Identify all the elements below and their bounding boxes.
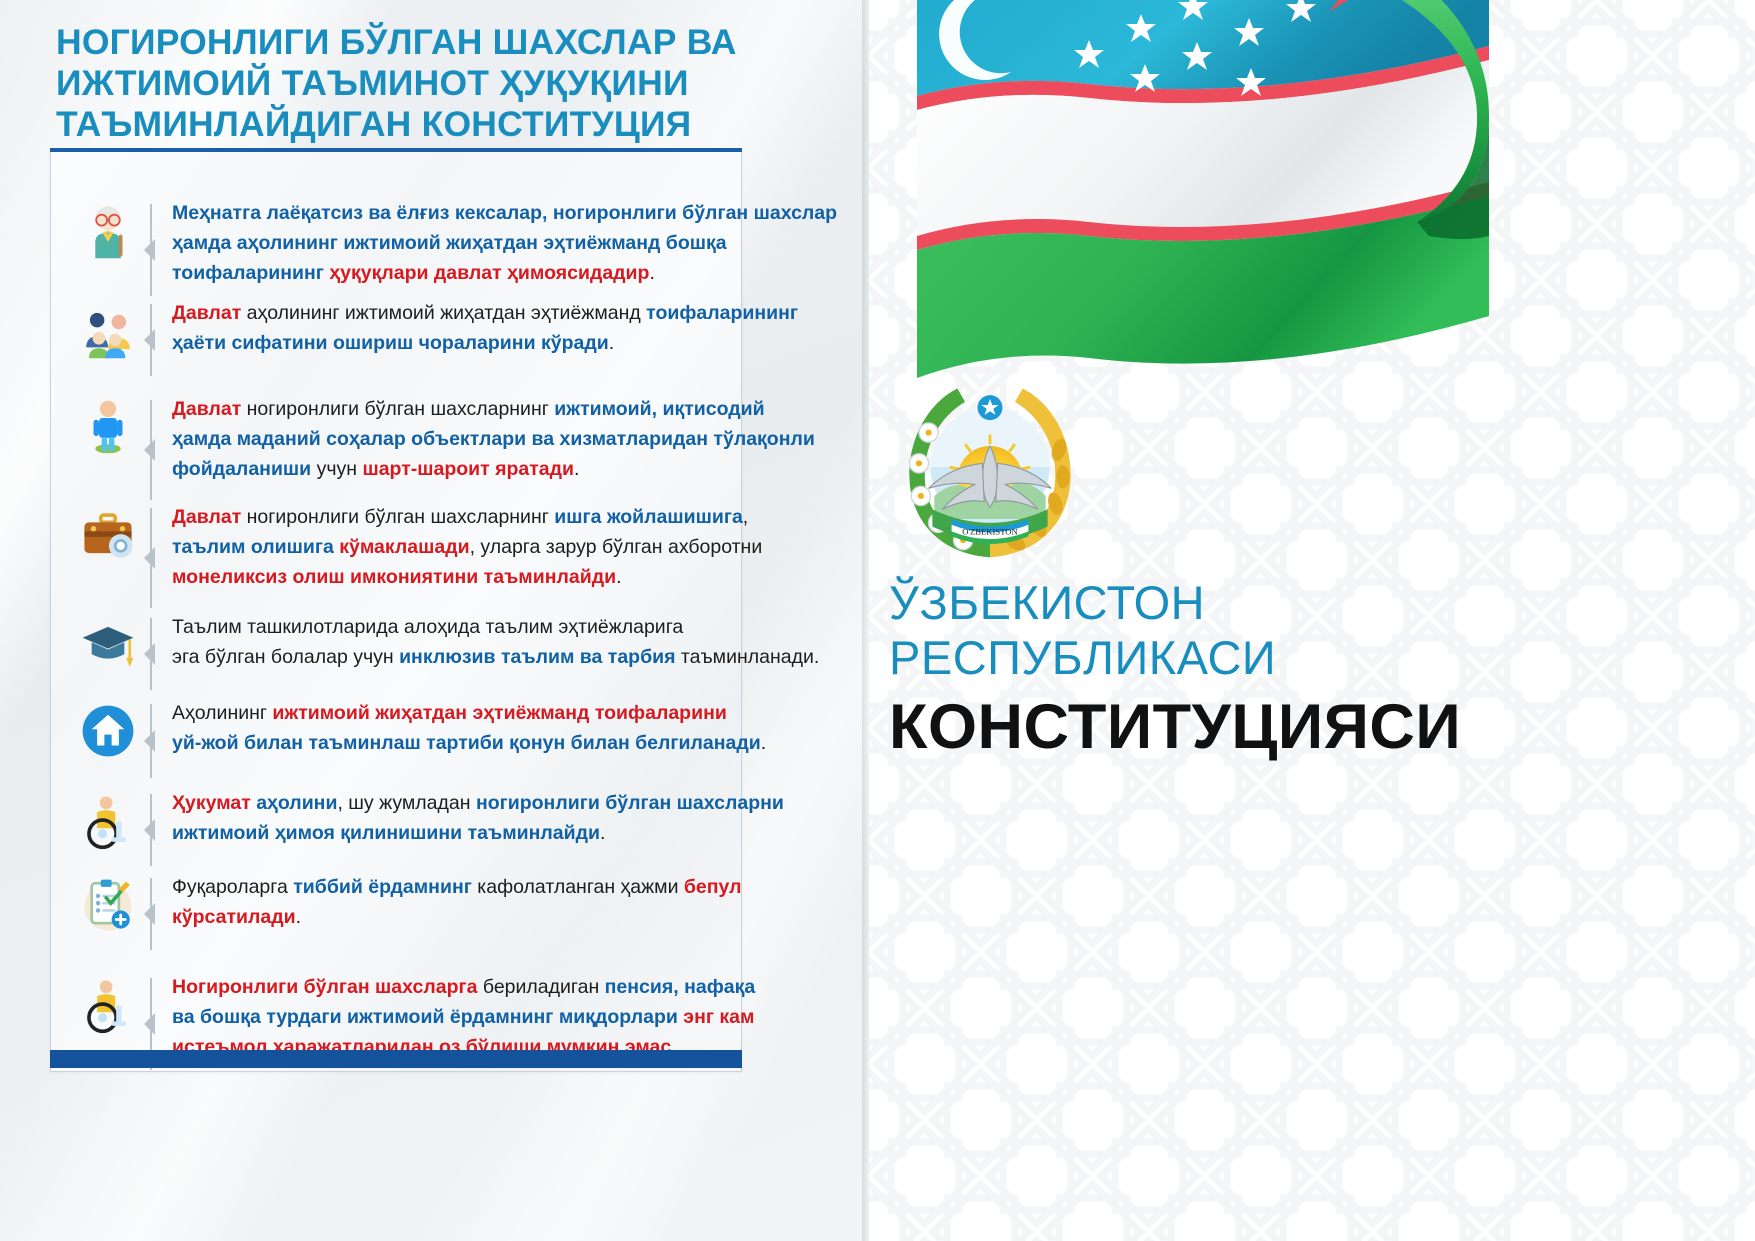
title-line-3: ТАЪМИНЛАЙДИГАН КОНСТИТУЦИЯ [56, 104, 756, 145]
provision-text-line: Меҳнатга лаёқатсиз ва ёлғиз кексалар, но… [172, 198, 837, 228]
provision-text-line: Фуқароларга тиббий ёрдамнинг кафолатланг… [172, 872, 742, 902]
text-segment: . [609, 332, 614, 354]
provision-icon-cell [72, 972, 144, 1034]
text-segment: Ногиронлиги бўлган шахсларга [172, 976, 477, 998]
provision-row: Ҳукумат аҳолини, шу жумладан ногиронлиги… [50, 788, 740, 872]
text-segment: , шу жумладан [337, 792, 475, 814]
provision-text-line: Ҳукумат аҳолини, шу жумладан ногиронлиги… [172, 788, 784, 818]
text-segment: таълим олишига [172, 536, 339, 558]
text-segment: ногиронлиги бўлган шахсларнинг [241, 506, 554, 528]
page-title: НОГИРОНЛИГИ БЎЛГАН ШАХСЛАР ВА ИЖТИМОИЙ Т… [56, 22, 756, 145]
bracket-divider [144, 502, 158, 614]
provision-text-line: кўрсатилади. [172, 902, 742, 932]
text-segment: Ҳукумат [172, 792, 256, 814]
home-shield-icon [79, 702, 137, 760]
provision-row: Фуқароларга тиббий ёрдамнинг кафолатланг… [50, 872, 740, 956]
text-segment: ижтимоий жиҳатдан эҳтиёжманд тоифаларини [272, 702, 726, 724]
provision-icon-cell [72, 394, 144, 456]
country-line-2: РЕСПУБЛИКАСИ [889, 630, 1689, 685]
provision-text: Давлат ногиронлиги бўлган шахсларнинг иж… [158, 394, 819, 484]
family-group-icon [79, 302, 137, 360]
bracket-divider [144, 788, 158, 872]
text-segment: ногиронлиги бўлган шахсларни [476, 792, 784, 814]
text-segment: уй-жой билан таъминлаш тартиби қонун бил… [172, 732, 761, 754]
infographic-poster: НОГИРОНЛИГИ БЎЛГАН ШАХСЛАР ВА ИЖТИМОИЙ Т… [0, 0, 1755, 1241]
text-segment: Меҳнатга лаёқатсиз ва ёлғиз кексалар, но… [172, 202, 837, 224]
text-segment: Аҳолининг [172, 702, 272, 724]
text-segment: ишга жойлашишига [554, 506, 743, 528]
title-line-2: ИЖТИМОИЙ ТАЪМИНОТ ҲУҚУҚИНИ [56, 63, 756, 104]
provision-row: Давлат ногиронлиги бўлган шахсларнинг иж… [50, 394, 740, 506]
right-panel: O'ZBEKISTON ЎЗБЕКИСТОН РЕСПУБЛИКАСИ КОНС… [869, 0, 1755, 1241]
emblem-scroll-text: O'ZBEKISTON [962, 526, 1018, 536]
provision-text-line: монеликсиз олиш имкониятини таъминлайди. [172, 562, 762, 592]
provision-text: Ногиронлиги бўлган шахсларга бериладиган… [158, 972, 759, 1062]
country-line-1: ЎЗБЕКИСТОН [889, 575, 1689, 630]
text-segment: Фуқароларга [172, 876, 293, 898]
provision-text-line: Ногиронлиги бўлган шахсларга бериладиган… [172, 972, 755, 1002]
wheelchair-person-icon [79, 976, 137, 1034]
text-segment: Таълим ташкилотларида алоҳида таълим эҳт… [172, 616, 683, 638]
text-segment: кўмаклашади [339, 536, 469, 558]
text-segment: аҳолини [256, 792, 337, 814]
text-segment: аҳолининг ижтимоий жиҳатдан эҳтиёжманд [241, 302, 646, 324]
provision-icon-cell [72, 298, 144, 360]
text-segment: . [600, 822, 605, 844]
provision-text: Аҳолининг ижтимоий жиҳатдан эҳтиёжманд т… [158, 698, 770, 758]
text-segment: . [296, 906, 301, 928]
elderly-person-icon [79, 202, 137, 260]
text-segment: ҳамда маданий соҳалар объектлари ва хизм… [172, 428, 815, 450]
text-segment: инклюзив таълим ва тарбия [399, 646, 675, 668]
document-name: КОНСТИТУЦИЯСИ [889, 689, 1689, 765]
medical-clipboard-icon [79, 876, 137, 934]
text-segment: ҳаёти сифатини ошириш чораларини кўради [172, 332, 609, 354]
provision-text: Ҳукумат аҳолини, шу жумладан ногиронлиги… [158, 788, 788, 848]
provision-text-line: Аҳолининг ижтимоий жиҳатдан эҳтиёжманд т… [172, 698, 766, 728]
uzbekistan-flag-ribbon [869, 0, 1489, 406]
text-segment: эга бўлган болалар учун [172, 646, 399, 668]
text-segment: кўрсатилади [172, 906, 296, 928]
provision-row: Давлат аҳолининг ижтимоий жиҳатдан эҳтиё… [50, 298, 740, 382]
bracket-divider [144, 298, 158, 382]
text-segment: . [574, 458, 579, 480]
text-segment: Давлат [172, 302, 241, 324]
text-segment: . [761, 732, 766, 754]
graduation-cap-icon [79, 616, 137, 674]
provision-text-line: ижтимоий ҳимоя қилинишини таъминлайди. [172, 818, 784, 848]
provision-text-line: ҳамда аҳолининг ижтимоий жиҳатдан эҳтиёж… [172, 228, 837, 258]
provision-text-line: ва бошқа турдаги ижтимоий ёрдамнинг миқд… [172, 1002, 755, 1032]
provision-icon-cell [72, 612, 144, 674]
text-segment: таъминланади. [676, 646, 820, 668]
text-segment: монеликсиз олиш имкониятини таъминлайди [172, 566, 616, 588]
provision-text-line: тоифаларининг ҳуқуқлари давлат ҳимоясида… [172, 258, 837, 288]
text-segment: . [616, 566, 621, 588]
briefcase-gear-icon [79, 506, 137, 564]
text-segment: , [743, 506, 748, 528]
text-segment: тиббий ёрдамнинг [293, 876, 472, 898]
provision-text: Таълим ташкилотларида алоҳида таълим эҳт… [158, 612, 823, 672]
bracket-divider [144, 872, 158, 956]
provision-text: Давлат аҳолининг ижтимоий жиҳатдан эҳтиё… [158, 298, 802, 358]
uzbekistan-state-emblem: O'ZBEKISTON [894, 375, 1086, 567]
provision-icon-cell [72, 872, 144, 934]
text-segment: ижтимоий ҳимоя қилинишини таъминлайди [172, 822, 600, 844]
provision-text-line: уй-жой билан таъминлаш тартиби қонун бил… [172, 728, 766, 758]
text-segment: бериладиган [477, 976, 604, 998]
bracket-divider [144, 198, 158, 302]
provision-text-line: ҳаёти сифатини ошириш чораларини кўради. [172, 328, 798, 358]
text-segment: тоифаларининг [172, 262, 329, 284]
text-segment: ижтимоий, иқтисодий [554, 398, 764, 420]
provision-text-line: Давлат ногиронлиги бўлган шахсларнинг иш… [172, 502, 762, 532]
text-segment: кафолатланган ҳажми [472, 876, 684, 898]
provision-text-line: Таълим ташкилотларида алоҳида таълим эҳт… [172, 612, 819, 642]
bracket-divider [144, 698, 158, 784]
provision-text-line: Давлат ногиронлиги бўлган шахсларнинг иж… [172, 394, 815, 424]
provision-text-line: эга бўлган болалар учун инклюзив таълим … [172, 642, 819, 672]
text-segment: ва бошқа турдаги ижтимоий ёрдамнинг миқд… [172, 1006, 683, 1028]
provision-icon-cell [72, 698, 144, 760]
text-segment: бепул [684, 876, 742, 898]
provision-text-line: таълим олишига кўмаклашади, уларга зарур… [172, 532, 762, 562]
card-top-bar [50, 148, 742, 152]
text-segment: ҳамда аҳолининг ижтимоий жиҳатдан эҳтиёж… [172, 232, 727, 254]
provision-text-line: фойдаланиши учун шарт-шароит яратади. [172, 454, 815, 484]
wheelchair-person-icon [79, 792, 137, 850]
bracket-divider [144, 612, 158, 696]
title-line-1: НОГИРОНЛИГИ БЎЛГАН ШАХСЛАР ВА [56, 22, 756, 63]
text-segment: тоифаларининг [646, 302, 798, 324]
provision-row: Аҳолининг ижтимоий жиҳатдан эҳтиёжманд т… [50, 698, 740, 784]
text-segment: шарт-шароит яратади [362, 458, 574, 480]
provision-icon-cell [72, 198, 144, 260]
provision-text: Фуқароларга тиббий ёрдамнинг кафолатланг… [158, 872, 746, 932]
text-segment: , уларга зарур бўлган ахборотни [470, 536, 763, 558]
bracket-divider [144, 394, 158, 506]
text-segment: учун [311, 458, 362, 480]
provision-row: Меҳнатга лаёқатсиз ва ёлғиз кексалар, но… [50, 198, 740, 302]
provision-row: Давлат ногиронлиги бўлган шахсларнинг иш… [50, 502, 740, 614]
text-segment: фойдаланиши [172, 458, 311, 480]
provision-icon-cell [72, 788, 144, 850]
text-segment: ҳуқуқлари давлат ҳимоясидадир [329, 262, 649, 284]
provision-row: Таълим ташкилотларида алоҳида таълим эҳт… [50, 612, 740, 696]
text-segment: Давлат [172, 398, 241, 420]
text-segment: Давлат [172, 506, 241, 528]
text-segment: пенсия, нафақа [605, 976, 756, 998]
text-segment: ногиронлиги бўлган шахсларнинг [241, 398, 554, 420]
standing-person-icon [79, 398, 137, 456]
republic-title: ЎЗБЕКИСТОН РЕСПУБЛИКАСИ КОНСТИТУЦИЯСИ [889, 575, 1689, 765]
provision-text: Давлат ногиронлиги бўлган шахсларнинг иш… [158, 502, 766, 592]
provision-text-line: ҳамда маданий соҳалар объектлари ва хизм… [172, 424, 815, 454]
text-segment: . [649, 262, 654, 284]
text-segment: энг кам [683, 1006, 754, 1028]
provision-text: Меҳнатга лаёқатсиз ва ёлғиз кексалар, но… [158, 198, 841, 288]
provision-text-line: Давлат аҳолининг ижтимоий жиҳатдан эҳтиё… [172, 298, 798, 328]
card-bottom-bar [50, 1050, 742, 1068]
provision-icon-cell [72, 502, 144, 564]
